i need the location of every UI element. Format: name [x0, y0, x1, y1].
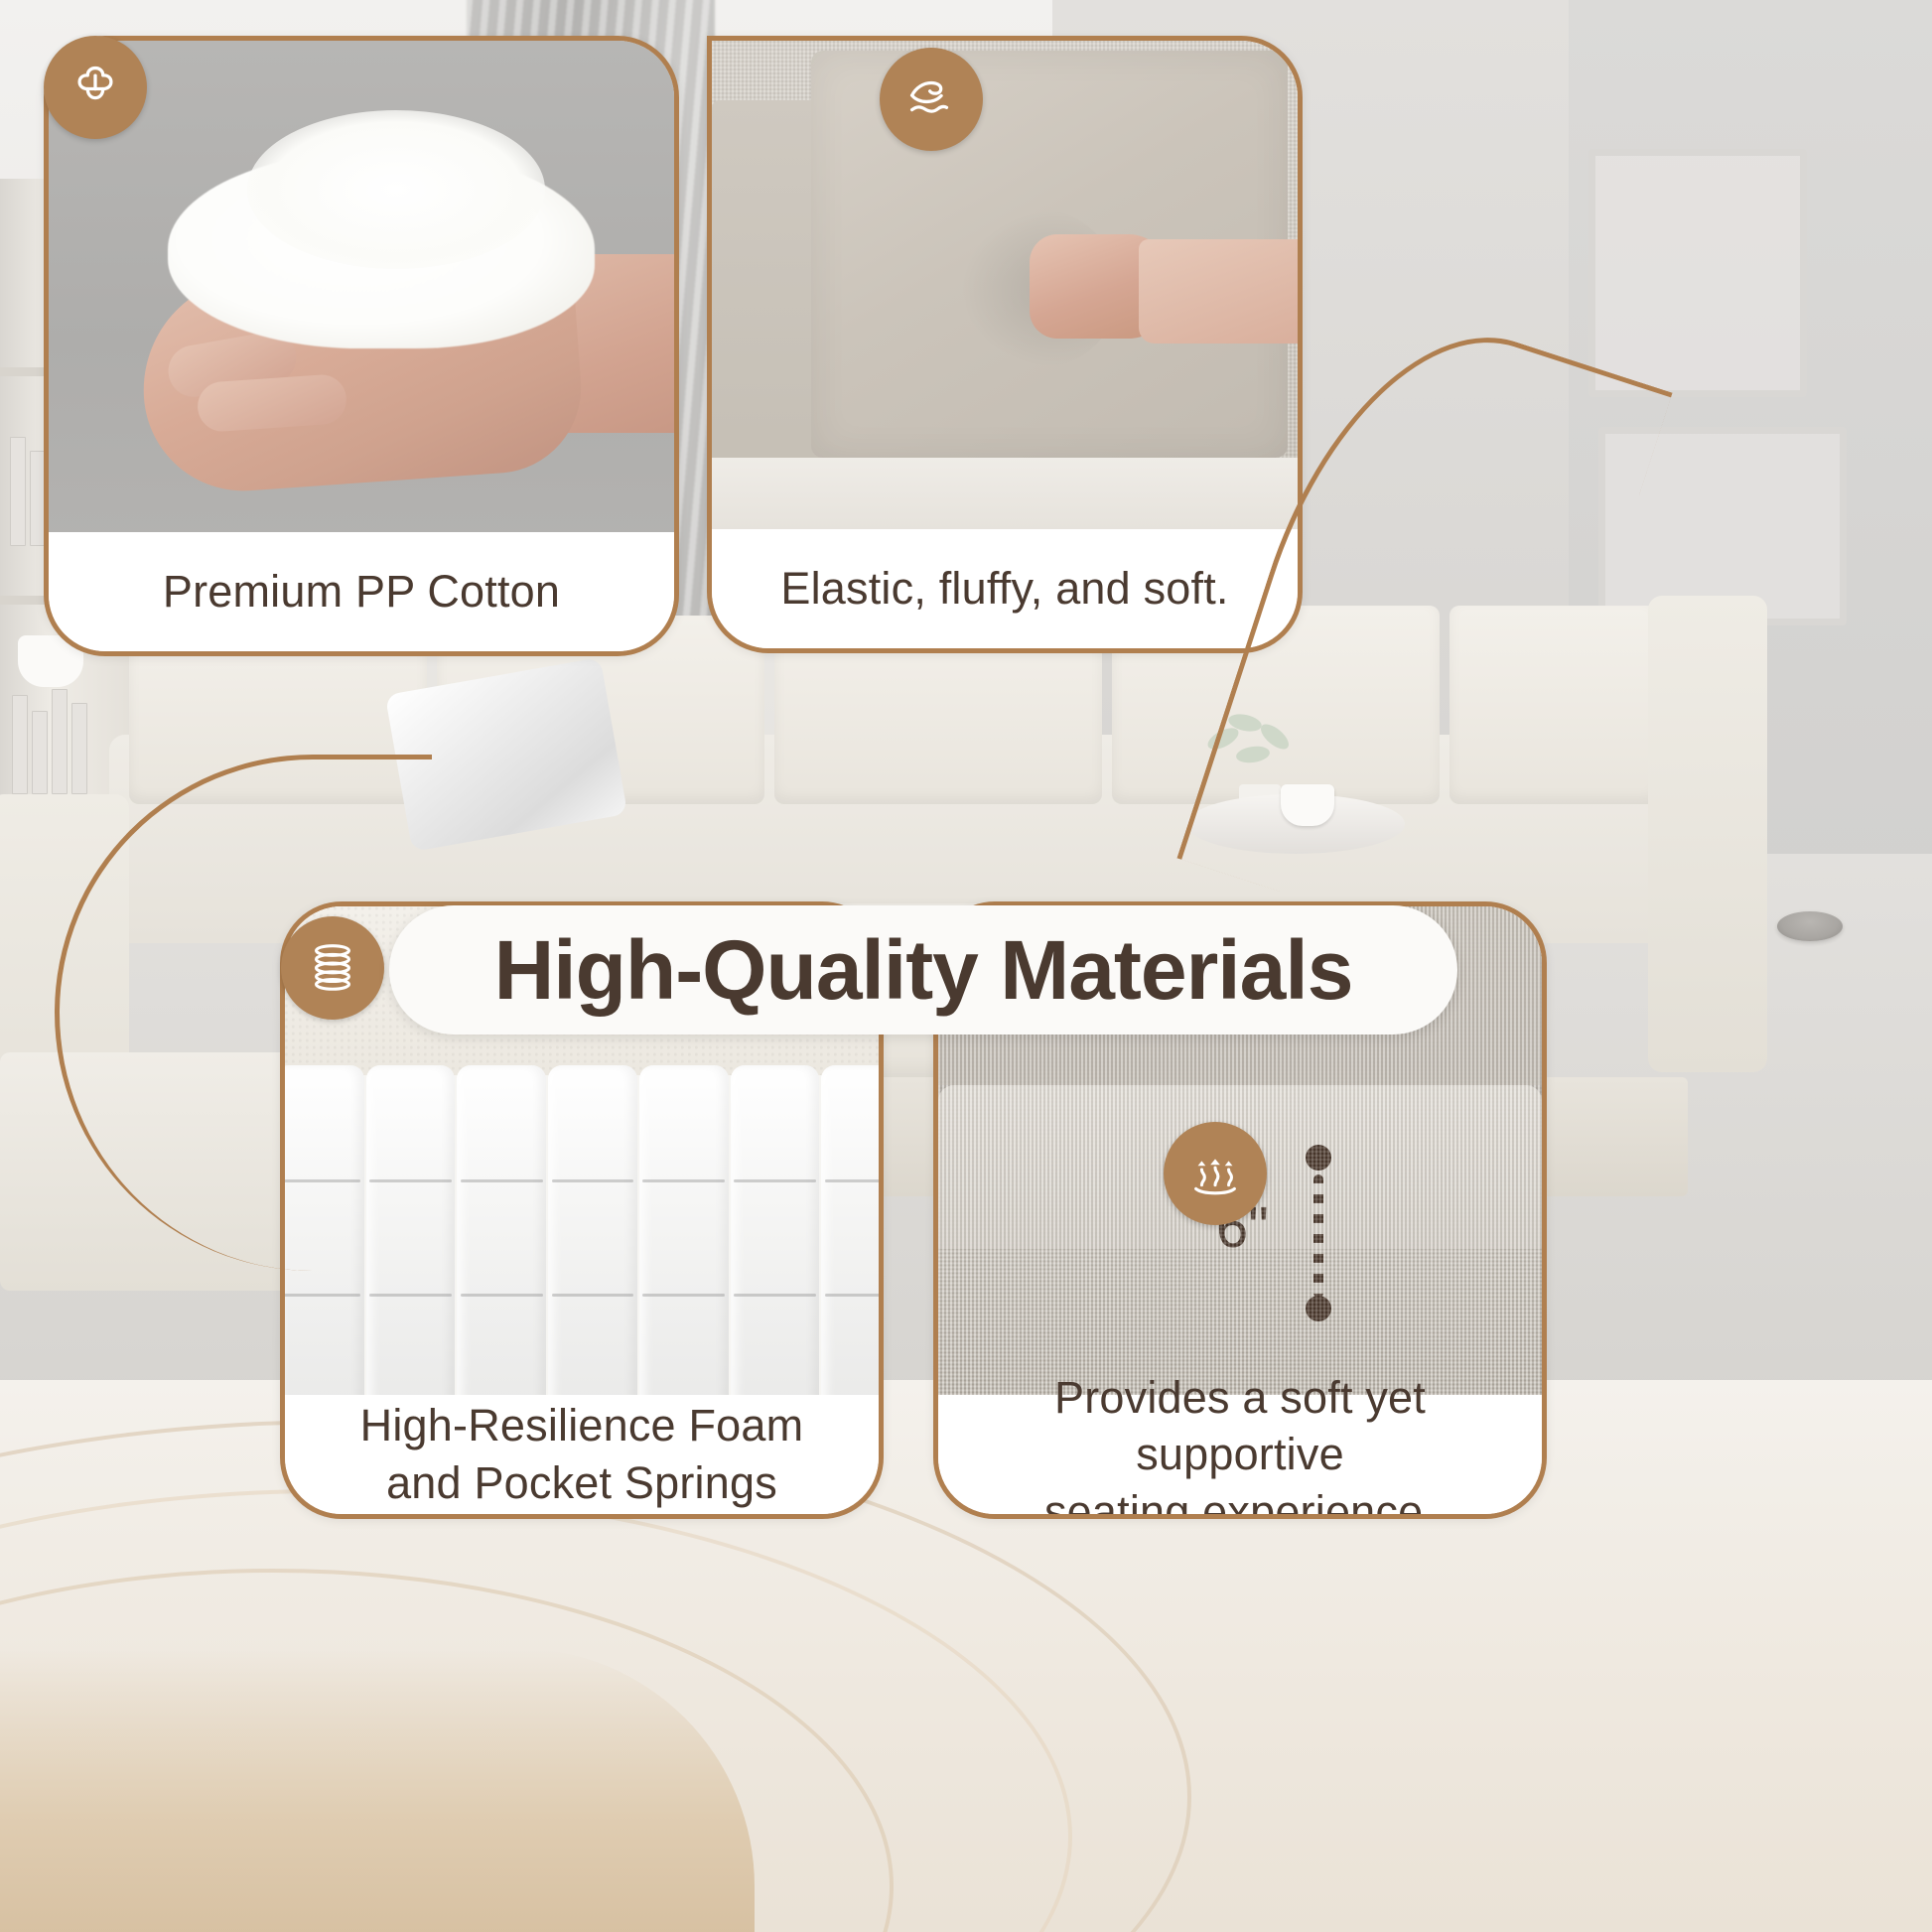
photo-cotton-in-hand — [49, 41, 674, 542]
feature-card-elastic-fluffy-soft[interactable]: Elastic, fluffy, and soft. — [707, 36, 1303, 653]
title-banner: High-Quality Materials — [389, 905, 1457, 1035]
measure-dot-bottom — [1306, 1296, 1331, 1321]
card-caption-line-2: and Pocket Springs — [386, 1454, 777, 1512]
card-caption: Elastic, fluffy, and soft. — [712, 529, 1298, 648]
measure-dot-top — [1306, 1145, 1331, 1171]
cotton-boll-icon-badge — [44, 36, 147, 139]
wall-frame-upper — [1588, 149, 1807, 397]
breathability-arrows-icon — [1184, 1141, 1246, 1207]
feature-card-premium-pp-cotton[interactable]: Premium PP Cotton — [44, 36, 679, 656]
photo-hand-pressing-cushion — [712, 41, 1298, 537]
cotton-boll-icon — [65, 55, 126, 121]
card-caption-line-1: High-Resilience Foam — [360, 1397, 804, 1454]
cupholder-right — [1777, 911, 1843, 941]
card-caption: Premium PP Cotton — [49, 532, 674, 651]
card-caption: Provides a soft yet supportive seating e… — [938, 1395, 1542, 1514]
coil-spring-icon — [302, 935, 363, 1002]
card-caption-line-2: seating experience. — [1044, 1483, 1436, 1519]
card-caption-line-1: Provides a soft yet supportive — [962, 1369, 1518, 1483]
card-caption: High-Resilience Foam and Pocket Springs — [285, 1395, 879, 1514]
hand-touch-wave-icon-badge — [880, 48, 983, 151]
breathability-arrows-icon-badge — [1164, 1122, 1267, 1225]
hand-touch-wave-icon — [900, 67, 962, 133]
measure-dotted-line — [1313, 1174, 1323, 1298]
page-title: High-Quality Materials — [494, 922, 1353, 1019]
coil-spring-icon-badge — [281, 916, 384, 1020]
thickness-measurement: 6" — [1254, 1145, 1433, 1323]
